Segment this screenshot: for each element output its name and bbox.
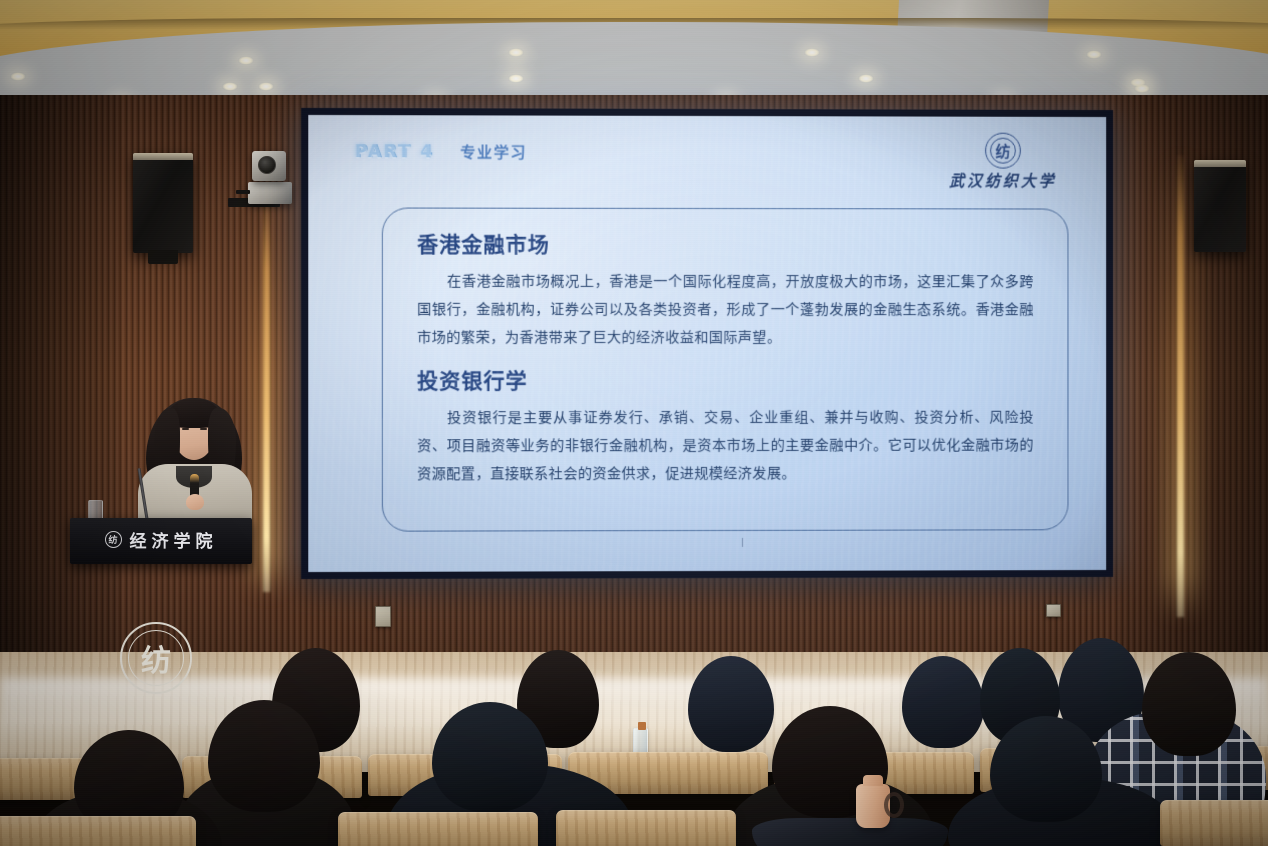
projection-screen-frame: PART 4 专业学习 纺 武汉纺织大学 香港金融市场 在香港金融市场概况上，香…: [301, 108, 1113, 579]
wall-outlet-plate-right[interactable]: [1046, 604, 1061, 617]
presenter-eye-right: [200, 428, 207, 430]
slide-part-label: PART 4: [355, 142, 434, 162]
slide-section-label: 专业学习: [460, 141, 527, 162]
ptz-camera-body: [248, 182, 292, 204]
podium-emblem-icon: 纺: [120, 622, 192, 694]
slide-block-investment-banking: 投资银行学 投资银行是主要从事证券发行、承销、交易、企业重组、兼并与收购、投资分…: [383, 365, 1068, 489]
audience-head: [688, 656, 774, 752]
downlight: [508, 74, 524, 83]
camera-lens-icon: [258, 156, 276, 174]
seat-back[interactable]: [0, 816, 196, 846]
camera-cable: [236, 190, 250, 194]
presenter-hand: [186, 494, 204, 510]
projection-screen[interactable]: PART 4 专业学习 纺 武汉纺织大学 香港金融市场 在香港金融市场概况上，香…: [308, 115, 1106, 572]
speaker-top-trim: [133, 153, 193, 160]
left-wall-speaker: [133, 153, 193, 253]
wall-outlet-plate[interactable]: [375, 606, 391, 627]
audience-backpack: [752, 818, 948, 846]
slide-content-box: 香港金融市场 在香港金融市场概况上，香港是一个国际化程度高，开放度极大的市场，这…: [382, 207, 1069, 531]
block-title-hongkong: 香港金融市场: [417, 229, 1034, 260]
slide-block-hongkong: 香港金融市场 在香港金融市场概况上，香港是一个国际化程度高，开放度极大的市场，这…: [383, 229, 1068, 352]
downlight: [258, 82, 274, 91]
podium-seal-glyph: 纺: [120, 622, 192, 694]
podium-sign-text: 经济学院: [130, 527, 218, 552]
podium-sign-seal-icon: 纺: [105, 531, 122, 548]
presenter-eye-left: [182, 428, 189, 430]
left-speaker-bracket: [148, 250, 178, 264]
downlight: [858, 74, 874, 83]
seal-glyph: 纺: [985, 133, 1021, 169]
block-title-investment-banking: 投资银行学: [417, 365, 1034, 395]
seat-back[interactable]: [556, 810, 736, 846]
seat-back[interactable]: [1160, 800, 1268, 846]
university-seal-icon: 纺: [985, 133, 1021, 169]
downlight: [222, 82, 238, 91]
seat-back[interactable]: [338, 812, 538, 846]
slide-header: PART 4 专业学习: [355, 141, 527, 162]
accent-light-strip-left: [263, 200, 270, 592]
speaker-top-trim-right: [1194, 160, 1246, 167]
downlight: [1086, 50, 1102, 59]
podium-top-sign-panel: 纺 经济学院: [70, 518, 252, 564]
audience-head: [902, 656, 984, 748]
thermos-handle[interactable]: [884, 792, 904, 818]
block-body-investment-banking: 投资银行是主要从事证券发行、承销、交易、企业重组、兼并与收购、投资分析、风险投资…: [417, 404, 1034, 489]
block-body-hongkong: 在香港金融市场概况上，香港是一个国际化程度高，开放度极大的市场，这里汇集了众多跨…: [417, 268, 1034, 352]
screen-cursor-mark: [742, 538, 743, 547]
lecture-hall-photo: PART 4 专业学习 纺 武汉纺织大学 香港金融市场 在香港金融市场概况上，香…: [0, 0, 1268, 846]
university-logo: 纺 武汉纺织大学: [941, 133, 1064, 192]
presenter: [136, 392, 254, 532]
downlight: [238, 56, 254, 65]
accent-light-strip-right: [1177, 155, 1184, 617]
downlight: [804, 48, 820, 57]
right-wall-speaker: [1194, 160, 1246, 252]
university-name: 武汉纺织大学: [941, 170, 1064, 193]
downlight: [10, 72, 26, 81]
podium-sign: 纺 经济学院: [70, 527, 252, 552]
downlight: [1134, 84, 1150, 93]
downlight: [508, 48, 524, 57]
